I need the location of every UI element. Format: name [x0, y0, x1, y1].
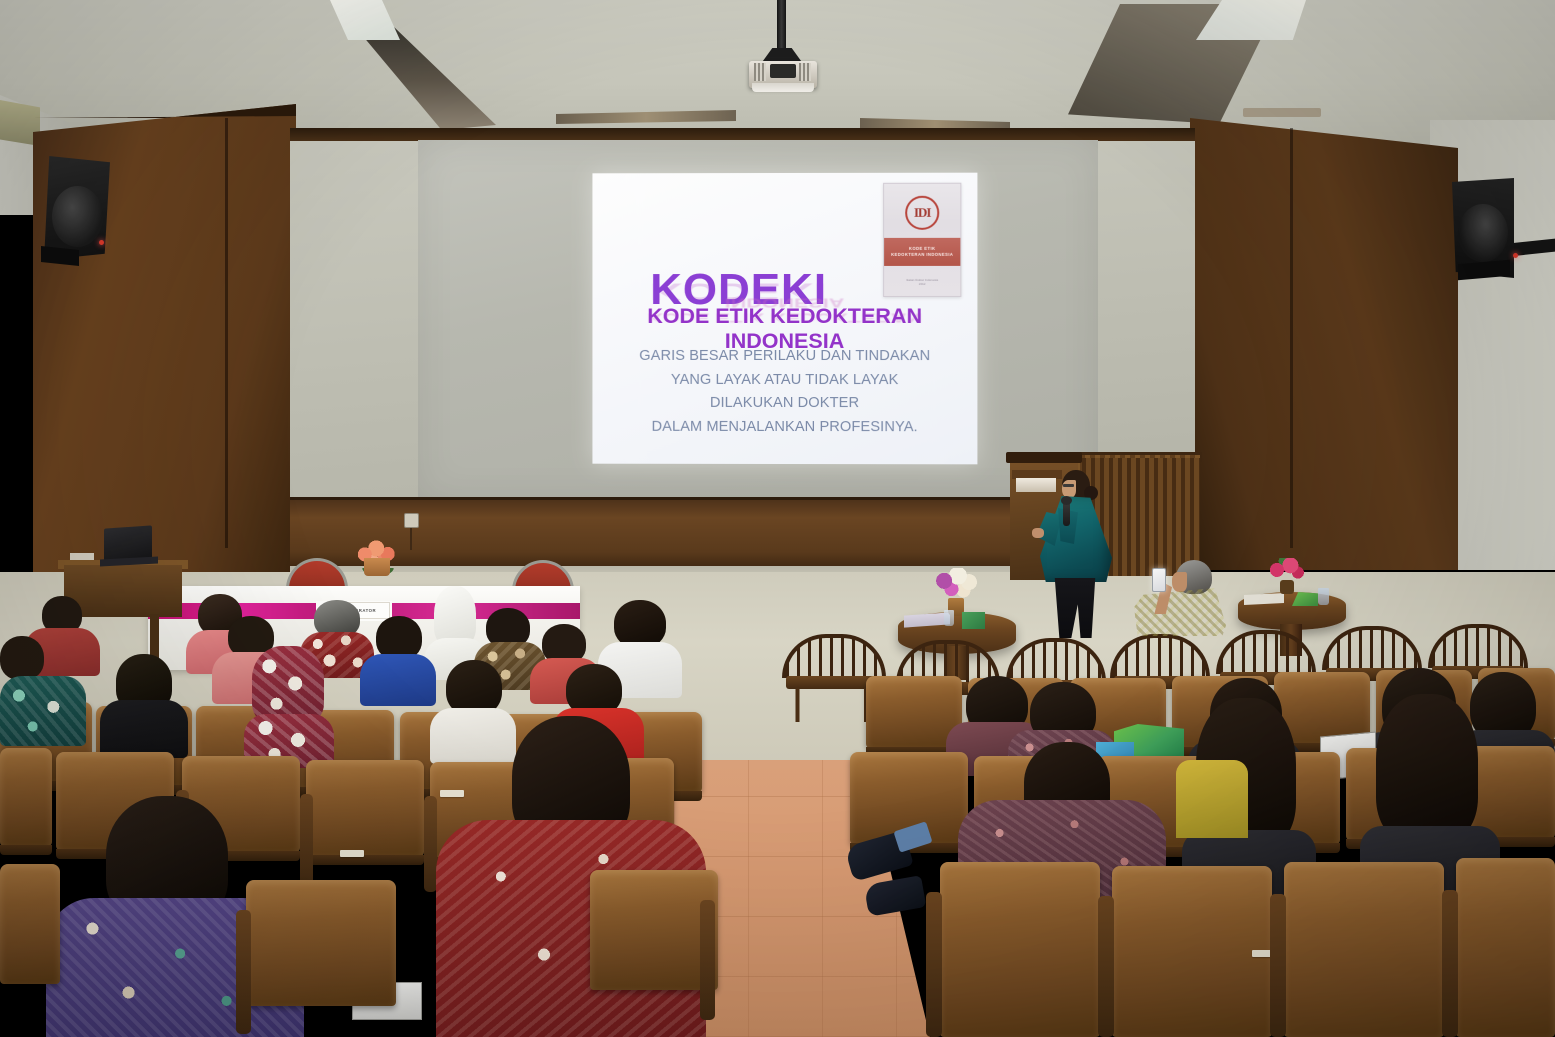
chair-back [1006, 638, 1106, 682]
book-title-band: KODE ETIK KEDOKTERAN INDONESIA [884, 238, 960, 266]
speaker-power-led [1513, 253, 1518, 258]
seat-back [590, 870, 718, 990]
panel-seam [225, 118, 228, 548]
auditorium-seat[interactable] [246, 880, 396, 1006]
slide-body-text: GARIS BESAR PERILAKU DAN TINDAKAN YANG L… [592, 345, 977, 440]
speaker-cone [52, 186, 103, 247]
book-band-line-2: KEDOKTERAN INDONESIA [891, 252, 953, 256]
flower-bouquet [934, 568, 980, 600]
podium-lip [1006, 452, 1082, 463]
seat-back [246, 880, 396, 1006]
flower-vase [364, 558, 390, 576]
auditorium-seat[interactable] [590, 870, 718, 990]
slide-body-line: DALAM MENJALANKAN PROFESINYA. [592, 416, 977, 440]
hijab-patterned [252, 646, 324, 724]
seat-back [0, 748, 52, 846]
seat-armrest [700, 900, 715, 1020]
seat-back [1112, 866, 1272, 1037]
attendee-face [1172, 572, 1187, 592]
chair-back [1428, 624, 1528, 668]
auditorium-seat[interactable] [1112, 866, 1272, 1037]
chair-legs [790, 688, 877, 722]
flower-vase [1280, 580, 1294, 594]
seat-rail [0, 845, 52, 855]
seat-back [1456, 858, 1555, 1037]
seat-back [1284, 862, 1444, 1037]
seat-armrest [236, 910, 251, 1034]
power-outlet [404, 513, 419, 528]
presenter-left-hand [1032, 528, 1044, 538]
seat-armrest [1442, 890, 1458, 1037]
av-operator-desk [64, 565, 182, 617]
eyeglasses-icon [1063, 484, 1074, 487]
smartphone-icon [1152, 568, 1166, 592]
attendee-torso [1134, 588, 1226, 636]
idi-logo-text: IDI [914, 205, 931, 221]
chair-back [1322, 626, 1422, 670]
auditorium-seat[interactable] [1284, 862, 1444, 1037]
seat-number-tag [340, 850, 364, 857]
slide-body-line: DILAKUKAN DOKTER [592, 392, 977, 416]
drinking-glass [1318, 588, 1329, 605]
attendee-torso [100, 700, 188, 758]
notebook-on-desk [70, 553, 94, 560]
speaker-power-led [99, 240, 104, 245]
attendee-yellow-top [1176, 760, 1248, 838]
slide-body-line: GARIS BESAR PERILAKU DAN TINDAKAN [592, 345, 977, 369]
ceiling-vent [1243, 108, 1321, 117]
seat-armrest [1270, 894, 1286, 1037]
auditorium-seat[interactable] [1470, 746, 1555, 838]
desk-leg [150, 614, 159, 660]
projector-vent-icon [754, 63, 766, 81]
speaker-cone [1458, 204, 1508, 262]
auditorium-seat[interactable] [0, 864, 60, 984]
projector-vent-icon [799, 63, 811, 81]
projector-mount-pole [777, 0, 786, 52]
seat-armrest [300, 794, 313, 890]
microphone-head [1061, 496, 1072, 505]
attendee-head-long-hair [1376, 694, 1478, 842]
seat-back [306, 760, 424, 856]
auditorium-scene: IDI KODE ETIK KEDOKTERAN INDONESIA Ikata… [0, 0, 1555, 1037]
projected-slide: IDI KODE ETIK KEDOKTERAN INDONESIA Ikata… [592, 173, 977, 465]
seat-armrest [1098, 896, 1114, 1037]
podium-documents [1016, 478, 1056, 492]
panel-seam [1290, 128, 1293, 548]
attendee-head [614, 600, 666, 648]
chair-back [782, 634, 886, 678]
attendee-torso [430, 708, 516, 764]
attendee-head [0, 636, 44, 680]
seat-back [0, 864, 60, 984]
seat-armrest [926, 892, 942, 1037]
book-band-line-1: KODE ETIK [909, 247, 935, 251]
seat-back [1470, 746, 1555, 838]
right-wood-panel [1190, 118, 1458, 570]
auditorium-seat[interactable] [306, 760, 424, 856]
drinking-glass [944, 610, 954, 626]
projector-lens [770, 64, 796, 78]
idi-logo-icon: IDI [905, 196, 939, 230]
auditorium-seat[interactable] [0, 748, 52, 846]
hijab-white [434, 586, 476, 646]
outlet-cable [410, 528, 412, 550]
chair-back [1110, 634, 1210, 678]
green-gift-box [962, 612, 985, 629]
attendee-torso [360, 654, 436, 706]
attendee-torso [0, 676, 86, 746]
projector-base [752, 83, 814, 92]
auditorium-seat[interactable] [940, 862, 1100, 1037]
chair-back [1216, 630, 1316, 674]
seat-back [940, 862, 1100, 1037]
auditorium-seat[interactable] [1456, 858, 1555, 1037]
seat-number-tag [440, 790, 464, 797]
slide-body-line: YANG LAYAK ATAU TIDAK LAYAK [592, 369, 977, 393]
papers-on-table [1244, 593, 1284, 605]
seat-rail [306, 855, 424, 865]
